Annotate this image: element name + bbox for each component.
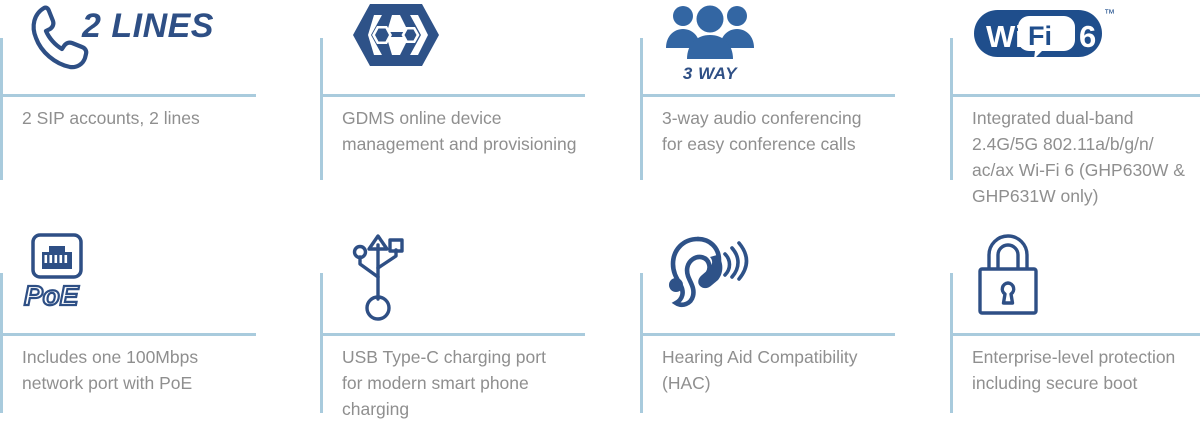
feature-cell-security: Enterprise-level protection including se… xyxy=(950,215,1200,413)
horizontal-divider xyxy=(0,94,256,97)
feature-cell-3-way: 3 WAY 3-way audio conferencing for easy … xyxy=(640,0,950,215)
feature-cell-usb: USB Type-C charging port for modern smar… xyxy=(320,215,640,413)
three-people-icon: 3 WAY xyxy=(662,2,758,82)
vertical-divider xyxy=(640,273,643,413)
vertical-divider xyxy=(320,38,323,180)
icon-container xyxy=(342,0,450,94)
ear-hearing-aid-icon xyxy=(662,233,752,313)
horizontal-divider xyxy=(640,333,895,336)
wifi-label-fi: Fi xyxy=(1028,21,1052,51)
horizontal-divider xyxy=(950,94,1200,97)
icon-label-poe: PoE xyxy=(24,280,80,311)
feature-description: Hearing Aid Compatibility (HAC) xyxy=(662,345,912,397)
vertical-divider xyxy=(640,38,643,180)
vertical-divider xyxy=(0,38,3,180)
icon-container xyxy=(662,233,752,333)
icon-container: PoE xyxy=(22,233,108,333)
icon-container xyxy=(972,233,1044,333)
feature-description: 3-way audio conferencing for easy confer… xyxy=(662,106,912,158)
trademark-icon: ™ xyxy=(1104,8,1115,20)
feature-cell-poe: PoE Includes one 100Mbps network port wi… xyxy=(0,215,320,413)
icon-container: 3 WAY xyxy=(662,0,758,94)
phone-handset-2-lines-icon: 2 LINES xyxy=(22,2,192,72)
ethernet-poe-icon: PoE xyxy=(22,233,108,311)
horizontal-divider xyxy=(320,94,585,97)
icon-label-2-lines: 2 LINES xyxy=(81,7,214,45)
wifi-label-six: 6 xyxy=(1079,19,1096,54)
vertical-divider xyxy=(320,273,323,413)
feature-grid: 2 LINES 2 SIP accounts, 2 lines xyxy=(0,0,1200,413)
horizontal-divider xyxy=(640,94,895,97)
horizontal-divider xyxy=(320,333,585,336)
icon-label-3-way: 3 WAY xyxy=(683,64,738,83)
feature-description: Enterprise-level protection including se… xyxy=(972,345,1200,397)
icon-container: 2 LINES xyxy=(22,0,192,94)
feature-description: GDMS online device management and provis… xyxy=(342,106,604,158)
usb-trident-icon xyxy=(342,233,414,321)
feature-cell-hearing-aid: Hearing Aid Compatibility (HAC) xyxy=(640,215,950,413)
feature-cell-2-lines: 2 LINES 2 SIP accounts, 2 lines xyxy=(0,0,320,215)
icon-container: Wi Fi 6 ™ xyxy=(972,0,1122,94)
icon-container xyxy=(342,233,414,333)
padlock-icon xyxy=(972,233,1044,317)
vertical-divider xyxy=(950,38,953,180)
feature-description: Integrated dual-band 2.4G/5G 802.11a/b/g… xyxy=(972,106,1200,210)
feature-cell-wifi6: Wi Fi 6 ™ Integrated dual-band 2.4G/5G 8… xyxy=(950,0,1200,215)
horizontal-divider xyxy=(0,333,256,336)
feature-cell-gdms: GDMS online device management and provis… xyxy=(320,0,640,215)
gdms-hexagon-icon xyxy=(342,2,450,68)
feature-description: USB Type-C charging port for modern smar… xyxy=(342,345,604,423)
feature-description: Includes one 100Mbps network port with P… xyxy=(22,345,260,397)
wifi-6-badge-icon: Wi Fi 6 ™ xyxy=(972,2,1122,64)
horizontal-divider xyxy=(950,333,1200,336)
vertical-divider xyxy=(950,273,953,413)
vertical-divider xyxy=(0,273,3,413)
wifi-label-wi: Wi xyxy=(986,19,1024,54)
feature-description: 2 SIP accounts, 2 lines xyxy=(22,106,260,132)
